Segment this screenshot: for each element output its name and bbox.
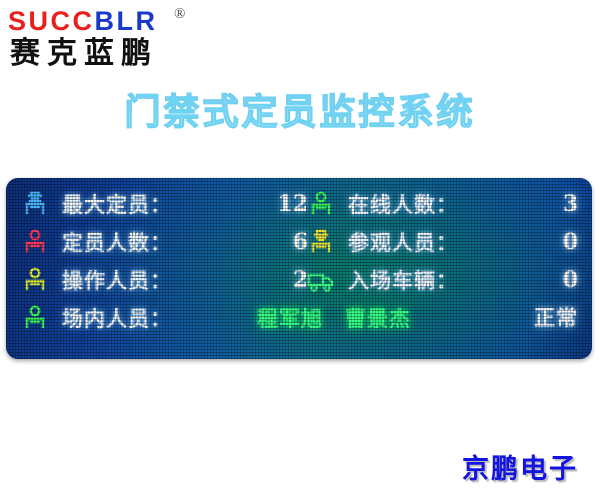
person-hat-icon: [306, 227, 336, 257]
person-icon: [20, 303, 50, 333]
row-visitors: 参观人员： 0: [306, 225, 592, 259]
person-icon: [306, 189, 336, 219]
row-max-capacity-label: 最大定员：: [62, 189, 262, 219]
row-operators-value: 2: [262, 267, 308, 293]
row-online-count: 在线人数： 3: [306, 187, 592, 221]
row-registered-count: 定员人数： 6: [20, 225, 308, 259]
footer-brand: 京鹏电子: [462, 447, 578, 486]
brand-logo: SUCCBLR ® 赛克蓝鹏: [8, 4, 238, 76]
registered-trademark-icon: ®: [174, 6, 185, 23]
row-occupants-names: 程军旭 曹景杰: [172, 303, 490, 333]
brand-wordmark-blue: BLR: [95, 6, 158, 36]
status-badge: 正常: [534, 301, 578, 335]
page-title: 门禁式定员监控系统: [0, 93, 600, 133]
row-vehicles: 入场车辆： 0: [306, 263, 592, 297]
row-vehicles-value: 0: [544, 267, 578, 293]
row-visitors-value: 0: [544, 229, 578, 255]
row-online-count-value: 3: [544, 191, 578, 217]
row-registered-count-label: 定员人数：: [62, 227, 262, 257]
row-registered-count-value: 6: [262, 229, 308, 255]
row-operators: 操作人员： 2: [20, 263, 308, 297]
led-display-panel: 最大定员： 12 定员人数： 6 操作人员： 2: [6, 178, 592, 359]
truck-icon: [306, 265, 336, 295]
brand-wordmark: SUCCBLR: [8, 8, 158, 35]
row-occupants: 场内人员： 程军旭 曹景杰: [20, 301, 490, 335]
brand-wordmark-red: SUCC: [8, 6, 95, 36]
person-icon: [20, 265, 50, 295]
row-max-capacity-value: 12: [262, 191, 308, 217]
brand-chinese-name: 赛克蓝鹏: [10, 37, 158, 70]
person-cap-icon: [20, 189, 50, 219]
row-max-capacity: 最大定员： 12: [20, 187, 308, 221]
row-occupants-label: 场内人员：: [62, 303, 172, 333]
person-icon: [20, 227, 50, 257]
row-operators-label: 操作人员：: [62, 265, 262, 295]
